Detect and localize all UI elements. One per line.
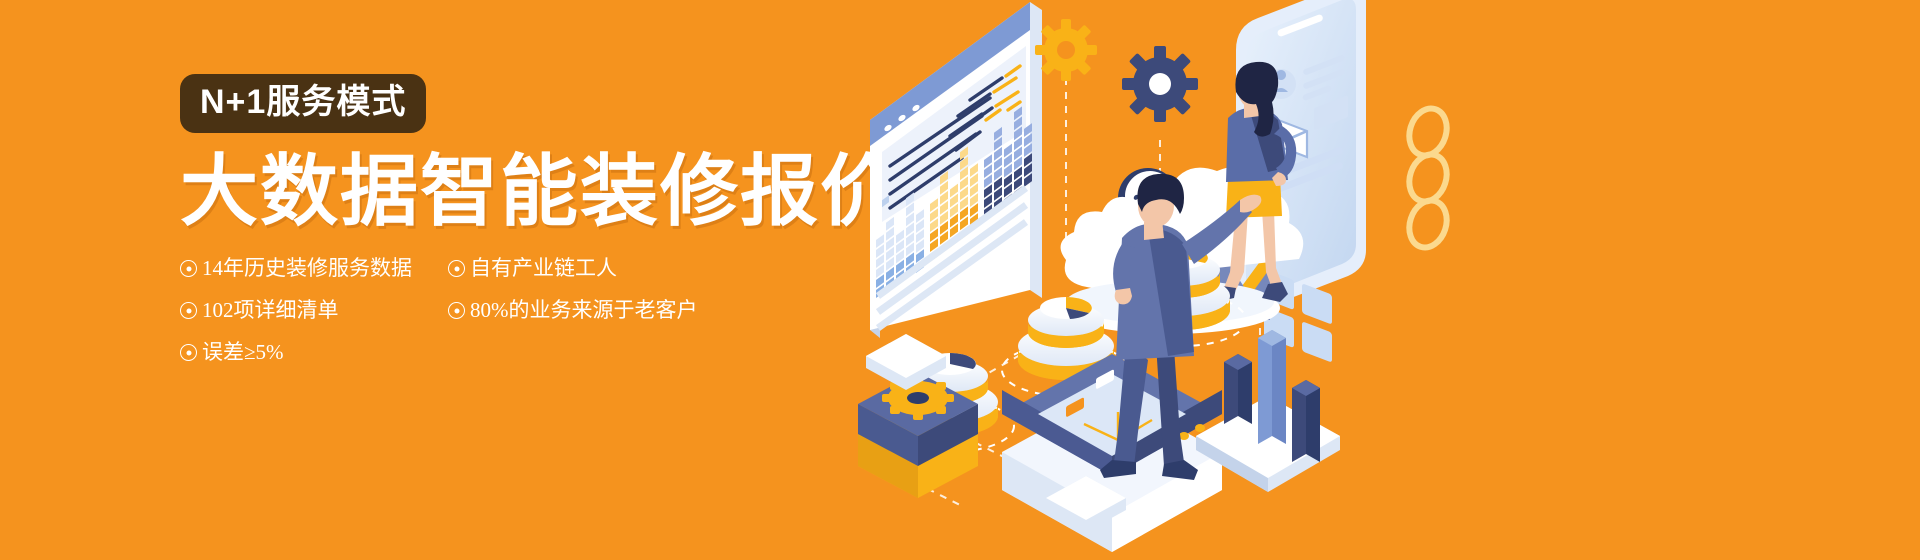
bullet-dot-icon	[448, 302, 465, 319]
bullet-dot-icon	[180, 344, 197, 361]
browser-window-dashboard	[870, 2, 1042, 338]
page-title: 大数据智能装修报价	[180, 151, 840, 232]
list-item-label: 14年历史装修服务数据	[202, 256, 412, 280]
list-item-label: 102项详细清单	[202, 298, 339, 322]
isometric-illustration	[830, 0, 1920, 560]
feature-list: 14年历史装修服务数据 102项详细清单 误差≥5% 自有产业链工人 80%的业…	[180, 258, 800, 378]
list-item-label: 自有产业链工人	[470, 256, 617, 280]
bullet-dot-icon	[180, 260, 197, 277]
bullet-dot-icon	[180, 302, 197, 319]
list-item: 14年历史装修服务数据	[180, 258, 412, 279]
list-item: 自有产业链工人	[448, 258, 617, 279]
navy-gear-icon	[1122, 46, 1198, 122]
list-item: 102项详细清单	[180, 300, 339, 321]
list-item: 误差≥5%	[180, 342, 284, 363]
yellow-gear-icon	[1035, 19, 1097, 81]
bullet-dot-icon	[448, 260, 465, 277]
promo-banner: N+1服务模式 大数据智能装修报价 14年历史装修服务数据 102项详细清单 误…	[0, 0, 1920, 560]
banner-text-block: N+1服务模式 大数据智能装修报价 14年历史装修服务数据 102项详细清单 误…	[180, 74, 840, 378]
ring-stack-icon	[1403, 104, 1452, 253]
list-item: 80%的业务来源于老客户	[448, 300, 698, 321]
list-item-label: 误差≥5%	[202, 340, 284, 364]
service-model-badge: N+1服务模式	[180, 74, 426, 133]
list-item-label: 80%的业务来源于老客户	[470, 298, 698, 322]
